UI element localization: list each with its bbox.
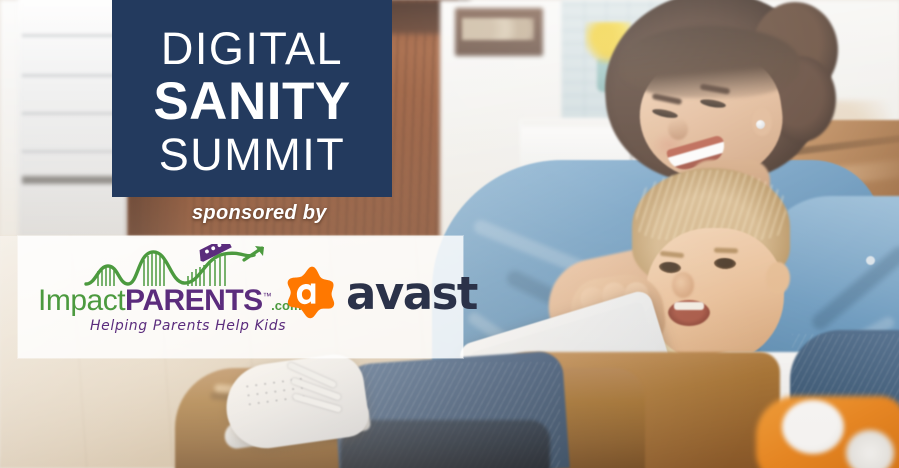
roller-coaster-icon [84,244,274,288]
sponsor-logo-panel: ImpactPARENTS™.com Helping Parents Help … [18,236,463,358]
wordmark-parents: PARENTS [125,284,263,317]
title-line-digital: DIGITAL [161,26,343,72]
jeans-shadow [340,420,550,468]
mother-earring [756,120,765,129]
impactparents-logo[interactable]: ImpactPARENTS™.com Helping Parents Help … [38,242,278,352]
background-jars [462,18,534,40]
orange-toy-detail [782,400,844,454]
shirt-button [866,256,875,265]
child-teeth [674,302,704,310]
child-nose [672,272,694,298]
orange-toy-detail [846,430,894,468]
impactparents-tagline: Helping Parents Help Kids [90,318,286,334]
impactparents-wordmark: ImpactPARENTS™.com [38,284,278,318]
avast-splat-a-icon [284,265,340,321]
avast-logo[interactable]: avast [284,262,464,324]
child-eye [714,258,736,270]
avast-wordmark: avast [346,271,477,316]
summit-promo-banner: DIGITAL SANITY SUMMIT sponsored by [0,0,899,468]
trademark-symbol: ™ [263,291,272,301]
wordmark-impact: Impact [38,284,125,317]
sponsored-by-label: sponsored by [192,202,327,225]
child-ear [766,262,790,294]
child-eyebrow [714,248,738,254]
title-line-summit: SUMMIT [159,132,345,178]
title-box: DIGITAL SANITY SUMMIT [112,0,392,197]
title-line-sanity: SANITY [153,75,350,129]
